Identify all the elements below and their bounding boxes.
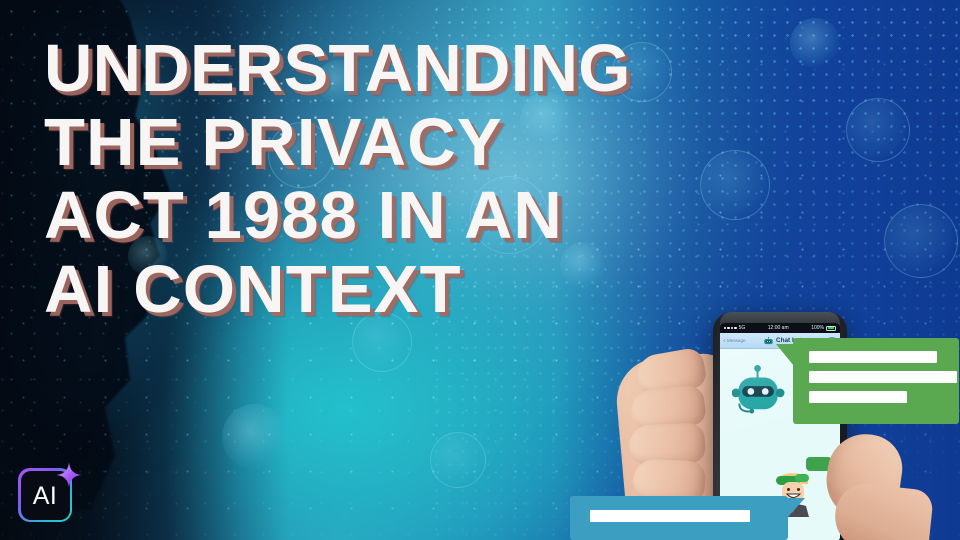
sparkle-icon bbox=[56, 462, 82, 488]
message-text-line bbox=[809, 391, 907, 403]
back-to-messages-link[interactable]: < Message bbox=[723, 338, 746, 343]
bubble-tail bbox=[776, 344, 794, 366]
message-text-line bbox=[809, 351, 937, 363]
bubble-tail bbox=[787, 498, 805, 518]
page-title: UNDERSTANDING THE PRIVACY ACT 1988 IN AN… bbox=[44, 36, 874, 331]
ai-badge-logo: AI bbox=[18, 462, 80, 524]
robot-head-icon bbox=[764, 337, 773, 345]
title-line-1: UNDERSTANDING bbox=[44, 36, 874, 102]
title-line-3: ACT 1988 IN AN bbox=[44, 183, 874, 249]
phone-chat-scene: 5G 12:00 am 100% < Message bbox=[585, 300, 960, 540]
user-message-bubble[interactable] bbox=[570, 496, 788, 540]
message-text-line bbox=[809, 371, 957, 383]
message-text-line bbox=[590, 510, 750, 522]
hand-lower-fingers bbox=[832, 481, 934, 540]
thumbnail-canvas: UNDERSTANDING THE PRIVACY ACT 1988 IN AN… bbox=[0, 0, 960, 540]
robot-with-headset-icon bbox=[732, 365, 786, 415]
bot-message-bubble[interactable] bbox=[793, 338, 959, 424]
ai-badge-label: AI bbox=[33, 484, 58, 509]
title-line-4: AI CONTEXT bbox=[44, 257, 874, 323]
title-line-2: THE PRIVACY bbox=[44, 110, 874, 176]
